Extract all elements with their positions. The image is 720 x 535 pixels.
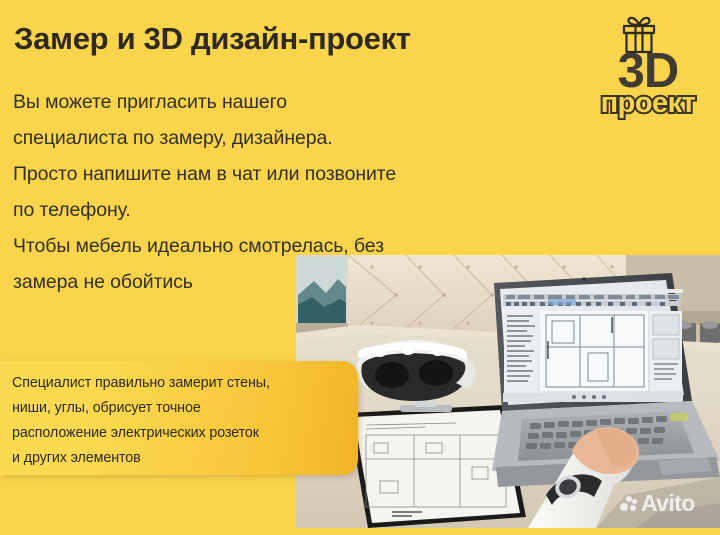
logo-3d-project: 3D проект xyxy=(578,48,718,133)
callout-box: Специалист правильно замерит стены, ниши… xyxy=(0,361,358,475)
callout-line-3: расположение электрических розеток xyxy=(12,421,346,446)
body-line-3: Просто напишите нам в чат или позвоните xyxy=(13,156,558,192)
photo-workspace: Avito xyxy=(296,255,720,528)
body-line-4: по телефону. xyxy=(13,192,558,228)
ad-banner: Замер и 3D дизайн-проект 3D проект Вы мо… xyxy=(0,0,720,535)
body-line-2: специалиста по замеру, дизайнера. xyxy=(13,120,558,156)
callout-line-4: и других элементов xyxy=(12,446,346,471)
logo-3d-sub: проект xyxy=(578,89,718,118)
callout-line-1: Специалист правильно замерит стены, xyxy=(12,371,346,396)
callout-line-2: ниши, углы, обрисует точное xyxy=(12,396,346,421)
body-line-1: Вы можете пригласить нашего xyxy=(13,84,558,120)
page-title: Замер и 3D дизайн-проект xyxy=(14,22,594,56)
